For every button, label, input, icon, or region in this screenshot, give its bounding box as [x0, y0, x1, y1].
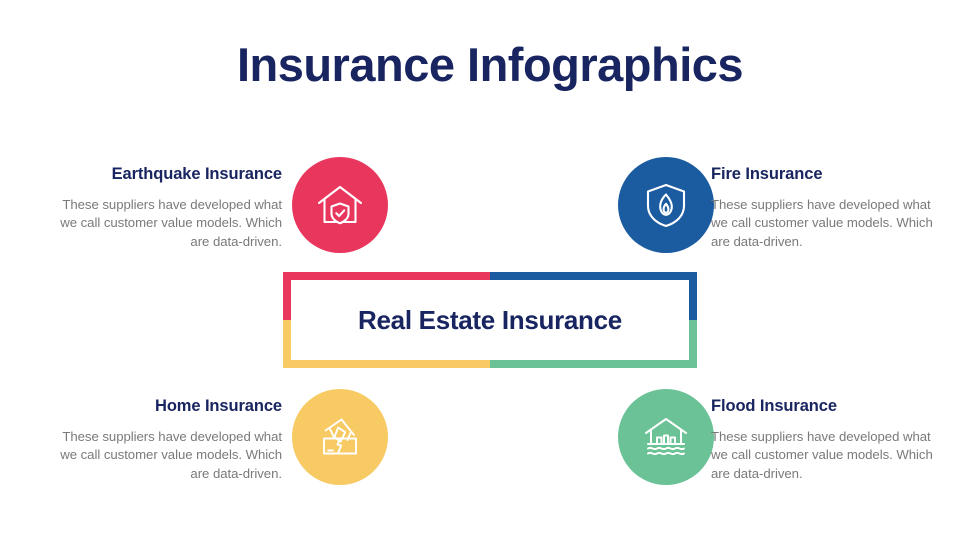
center-banner: Real Estate Insurance: [283, 272, 697, 368]
item-description-fire: These suppliers have developed what we c…: [711, 196, 941, 252]
center-banner-inner: Real Estate Insurance: [291, 280, 689, 360]
house-flood-waves-icon: [640, 411, 692, 463]
icon-circle-earthquake[interactable]: [292, 157, 388, 253]
item-title-fire: Fire Insurance: [711, 164, 941, 185]
damaged-house-crack-icon: [314, 411, 366, 463]
item-title-earthquake: Earthquake Insurance: [52, 164, 282, 185]
icon-circle-home[interactable]: [292, 389, 388, 485]
center-banner-label: Real Estate Insurance: [358, 306, 622, 335]
text-block-earthquake: Earthquake Insurance These suppliers hav…: [52, 164, 282, 252]
text-block-flood: Flood Insurance These suppliers have dev…: [711, 396, 941, 484]
text-block-home: Home Insurance These suppliers have deve…: [52, 396, 282, 484]
house-shield-check-icon: [315, 180, 365, 230]
icon-circle-fire[interactable]: [618, 157, 714, 253]
item-title-home: Home Insurance: [52, 396, 282, 417]
item-title-flood: Flood Insurance: [711, 396, 941, 417]
infographic-slide: Insurance Infographics Earthquake Insura…: [0, 0, 980, 551]
shield-flame-icon: [641, 180, 691, 230]
item-description-earthquake: These suppliers have developed what we c…: [52, 196, 282, 252]
text-block-fire: Fire Insurance These suppliers have deve…: [711, 164, 941, 252]
page-title: Insurance Infographics: [0, 38, 980, 92]
item-description-home: These suppliers have developed what we c…: [52, 428, 282, 484]
item-description-flood: These suppliers have developed what we c…: [711, 428, 941, 484]
icon-circle-flood[interactable]: [618, 389, 714, 485]
